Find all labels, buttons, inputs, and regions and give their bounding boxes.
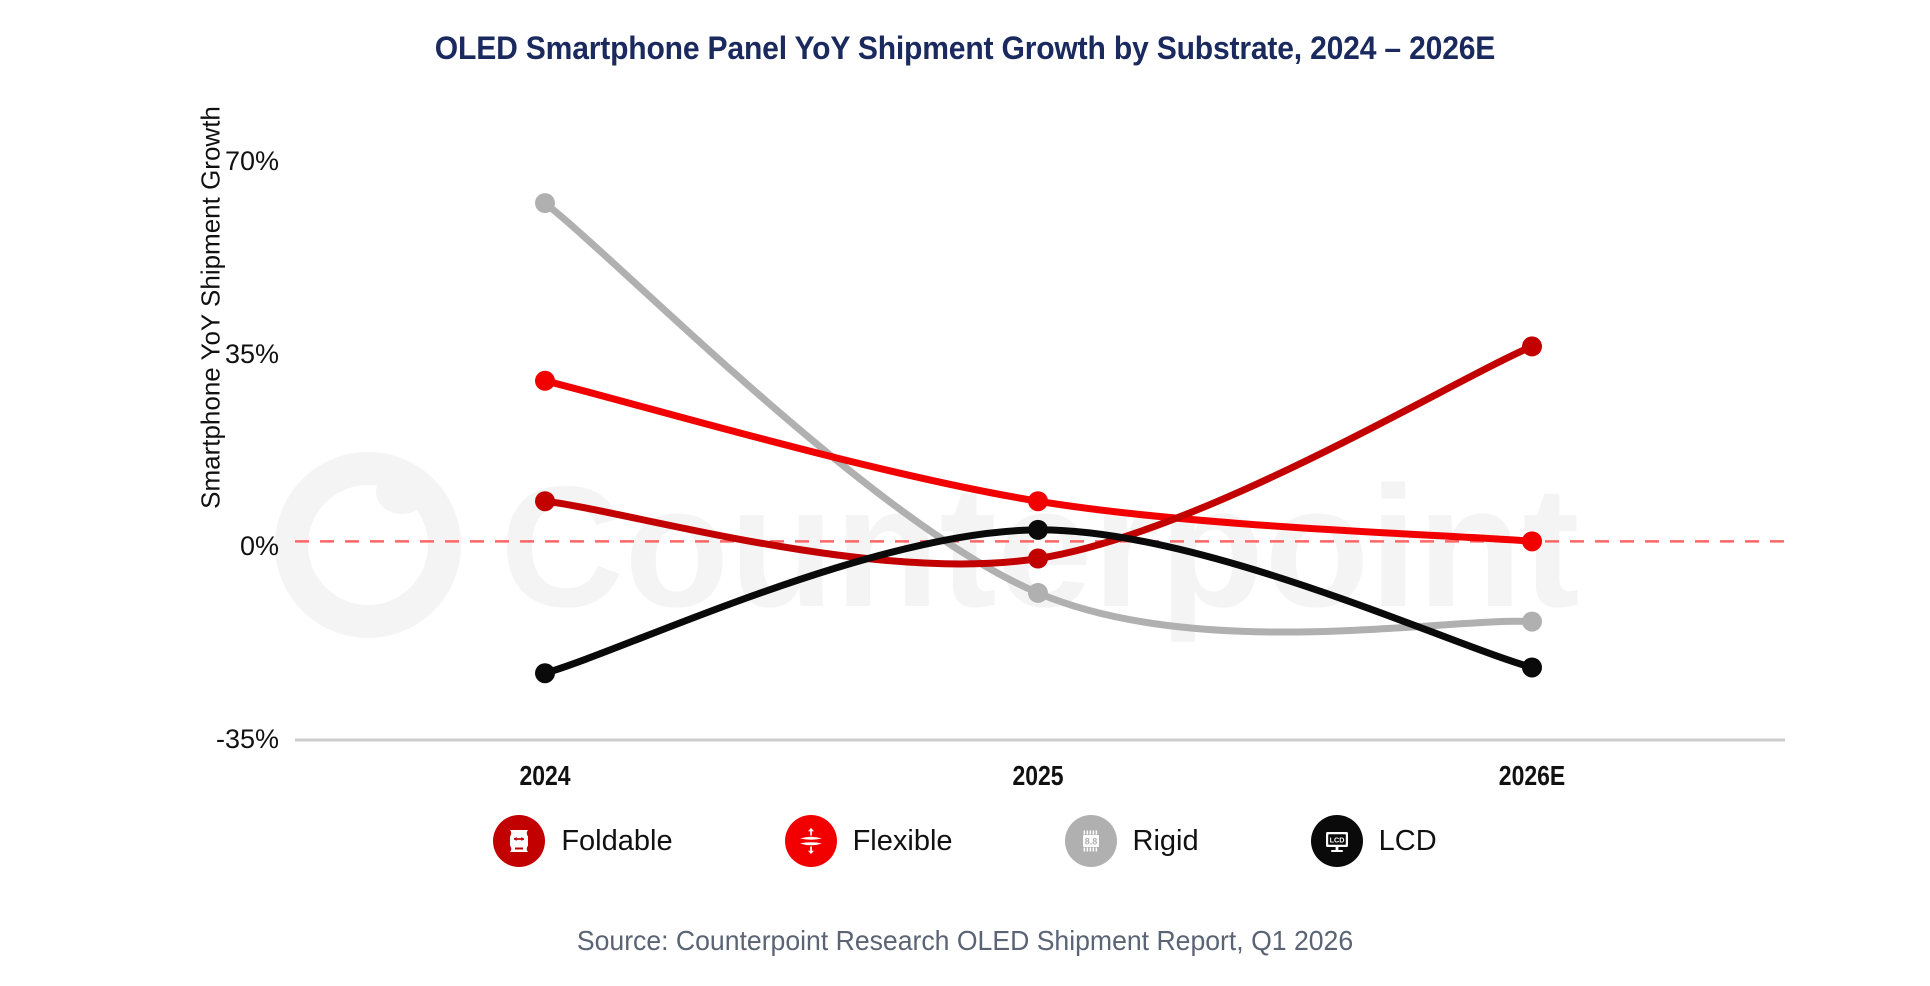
legend-label-rigid: Rigid — [1133, 825, 1199, 858]
data-point-rigid-2024[interactable] — [535, 193, 555, 213]
svg-text:8.8: 8.8 — [1084, 836, 1097, 846]
series-canvas — [295, 140, 1785, 742]
legend-item-foldable[interactable]: Foldable — [493, 815, 672, 867]
data-point-flexible-2024[interactable] — [535, 371, 555, 391]
source-note: Source: Counterpoint Research OLED Shipm… — [48, 925, 1882, 957]
data-point-foldable-2026E[interactable] — [1522, 336, 1542, 356]
data-point-lcd-2026E[interactable] — [1522, 657, 1542, 677]
x-tick-label-2026e: 2026E — [1442, 760, 1622, 792]
y-tick-label-0: 0% — [79, 531, 279, 562]
y-tick-label-neg35: -35% — [79, 724, 279, 755]
legend-label-lcd: LCD — [1379, 825, 1437, 858]
series-markers — [535, 193, 1542, 683]
rigid-chip-icon: 8.8 — [1065, 815, 1117, 867]
plot-area — [295, 140, 1785, 742]
chart-legend: Foldable Flexible — [0, 815, 1930, 867]
data-point-flexible-2025[interactable] — [1028, 491, 1048, 511]
lcd-monitor-icon: LCD — [1311, 815, 1363, 867]
y-axis-title: Smartphone YoY Shipment Growth — [196, 48, 227, 568]
series-line-flexible — [545, 381, 1532, 542]
y-tick-label-35: 35% — [79, 339, 279, 370]
data-point-foldable-2024[interactable] — [535, 491, 555, 511]
svg-text:LCD: LCD — [1329, 835, 1344, 844]
chart-title: OLED Smartphone Panel YoY Shipment Growt… — [58, 30, 1872, 67]
x-tick-label-2025: 2025 — [948, 760, 1128, 792]
legend-item-flexible[interactable]: Flexible — [785, 815, 953, 867]
y-tick-label-70: 70% — [79, 146, 279, 177]
x-tick-label-2024: 2024 — [455, 760, 635, 792]
data-point-lcd-2024[interactable] — [535, 663, 555, 683]
data-point-flexible-2026E[interactable] — [1522, 531, 1542, 551]
data-point-lcd-2025[interactable] — [1028, 520, 1048, 540]
data-point-rigid-2026E[interactable] — [1522, 612, 1542, 632]
data-point-rigid-2025[interactable] — [1028, 583, 1048, 603]
legend-label-flexible: Flexible — [853, 825, 953, 858]
legend-item-rigid[interactable]: 8.8 Rigid — [1065, 815, 1199, 867]
legend-label-foldable: Foldable — [561, 825, 672, 858]
legend-item-lcd[interactable]: LCD LCD — [1311, 815, 1437, 867]
foldable-phone-icon — [493, 815, 545, 867]
chart-container: OLED Smartphone Panel YoY Shipment Growt… — [0, 0, 1930, 986]
flexible-panel-icon — [785, 815, 837, 867]
data-point-foldable-2025[interactable] — [1028, 549, 1048, 569]
